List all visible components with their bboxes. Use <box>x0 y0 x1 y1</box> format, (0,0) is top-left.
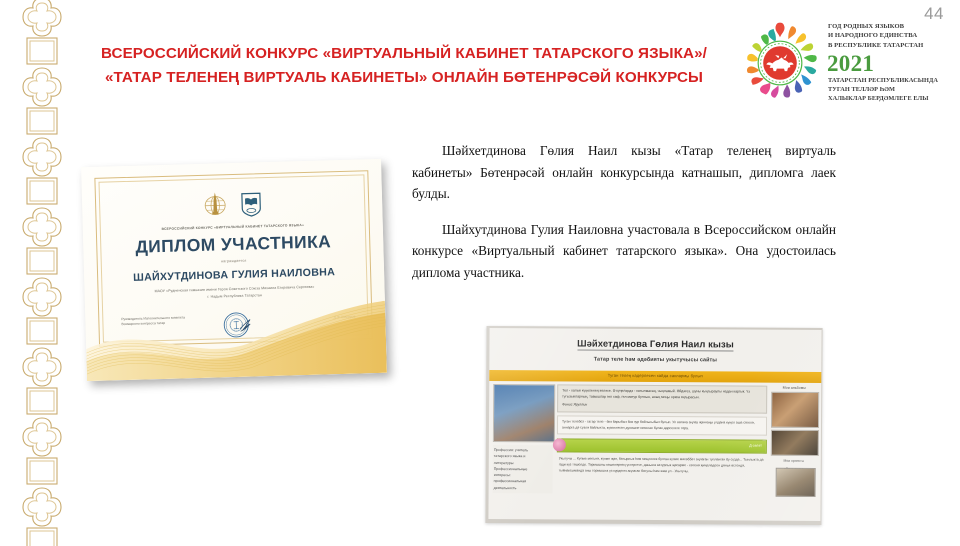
website-title: Шәйхетдинова Гөлия Наил кызы <box>489 337 821 350</box>
diploma-wave-decoration <box>85 301 387 381</box>
website-albums-title: Мои альбомы <box>771 386 817 390</box>
year-logo-year: 2021 <box>827 52 956 75</box>
website-green-banner: Д сәләт <box>557 439 767 454</box>
website-left-column: Профессия: учитель татарского языка и ли… <box>492 384 553 515</box>
year-of-native-languages-logo: ГОД РОДНЫХ ЯЗЫКОВ И НАРОДНОГО ЕДИНСТВА В… <box>738 20 956 106</box>
website-subtitle: Татар теле һәм әдәбияты укытучысы сайты <box>489 356 821 364</box>
year-logo-top-line-2: И НАРОДНОГО ЕДИНСТВА <box>828 31 956 40</box>
paragraph-russian: Шайхутдинова Гулия Наиловна участовала в… <box>412 219 836 284</box>
year-logo-bottom-line-1: ТАТАРСТАН РЕСПУБЛИКАСЫНДА <box>828 77 956 86</box>
album-thumbnail-2 <box>771 430 819 456</box>
book-shield-icon <box>239 190 262 218</box>
website-main-column: Тел - халык күңеленең келәсе. Ә күңеләрд… <box>556 384 767 516</box>
diploma-certificate-image: ВСЕРОССИЙСКИЙ КОНКУРС «ВИРТУАЛЬНЫЙ КАБИН… <box>81 159 387 381</box>
website-right-column: Мои альбомы Мои проекты «Без сәләт» <box>770 386 817 517</box>
page-title-line-2: «ТАТАР ТЕЛЕНЕҢ ВИРТУАЛЬ КАБИНЕТЫ» ОНЛАЙН… <box>84 66 724 90</box>
website-paragraph-1: Туган телебез - татар теле - без барыбыз… <box>557 415 767 436</box>
website-ticker-text: Туган телең кадерлесен кайда саклармы бу… <box>489 372 821 379</box>
page-title-line-1: ВСЕРОССИЙСКИЙ КОНКУРС «ВИРТУАЛЬНЫЙ КАБИН… <box>84 42 724 66</box>
tatar-ornament-pattern-icon <box>20 0 64 546</box>
ornamental-border-left <box>0 0 70 540</box>
tatarstan-emblem-icon <box>738 21 822 105</box>
website-screenshot-photo: Шәйхетдинова Гөлия Наил кызы Татар теле … <box>485 326 822 525</box>
flower-icon <box>553 439 566 452</box>
website-page: Шәйхетдинова Гөлия Наил кызы Татар теле … <box>488 328 821 521</box>
body-text-block: Шәйхетдинова Гөлия Наил кызы «Татар теле… <box>412 140 836 297</box>
year-logo-top-line-3: В РЕСПУБЛИКЕ ТАТАРСТАН <box>828 41 956 50</box>
page-title: ВСЕРОССИЙСКИЙ КОНКУРС «ВИРТУАЛЬНЫЙ КАБИН… <box>84 42 724 89</box>
year-logo-top-line-1: ГОД РОДНЫХ ЯЗЫКОВ <box>828 22 956 31</box>
website-quote-author: Фәнис Яруллин <box>562 403 762 410</box>
year-logo-bottom-line-3: ХАЛЫКЛАР БЕРДӘМЛЕГЕ ЕЛЫ <box>828 95 956 104</box>
album-thumbnail-1 <box>771 392 819 428</box>
website-green-banner-label: Д сәләт <box>749 444 762 448</box>
year-logo-text: ГОД РОДНЫХ ЯЗЫКОВ И НАРОДНОГО ЕДИНСТВА В… <box>828 22 956 104</box>
website-profile-info: Профессия: учитель татарского языка и ли… <box>493 445 553 493</box>
album-caption-1: Мои проекты <box>771 459 817 465</box>
globe-tower-icon <box>202 191 227 219</box>
year-logo-bottom-line-2: ТУГАН ТЕЛЛӘР ҺӘМ <box>828 86 956 95</box>
website-paragraph-2: Укытучы ... Күпме мәгънә, күпме җан, бат… <box>557 457 767 475</box>
group-photo-thumbnail <box>776 468 816 497</box>
website-quote-box: Тел - халык күңеленең келәсе. Ә күңеләрд… <box>557 384 767 413</box>
website-columns: Профессия: учитель татарского языка и ли… <box>492 384 817 517</box>
website-ticker-bar: Туган телең кадерлесен кайда саклармы бу… <box>489 370 821 383</box>
website-quote-text: Тел - халык күңеленең келәсе. Ә күңеләрд… <box>562 388 762 401</box>
teacher-photo <box>493 384 555 442</box>
profile-line-7: деятельность <box>494 485 552 492</box>
paragraph-tatar: Шәйхетдинова Гөлия Наил кызы «Татар теле… <box>412 140 836 205</box>
